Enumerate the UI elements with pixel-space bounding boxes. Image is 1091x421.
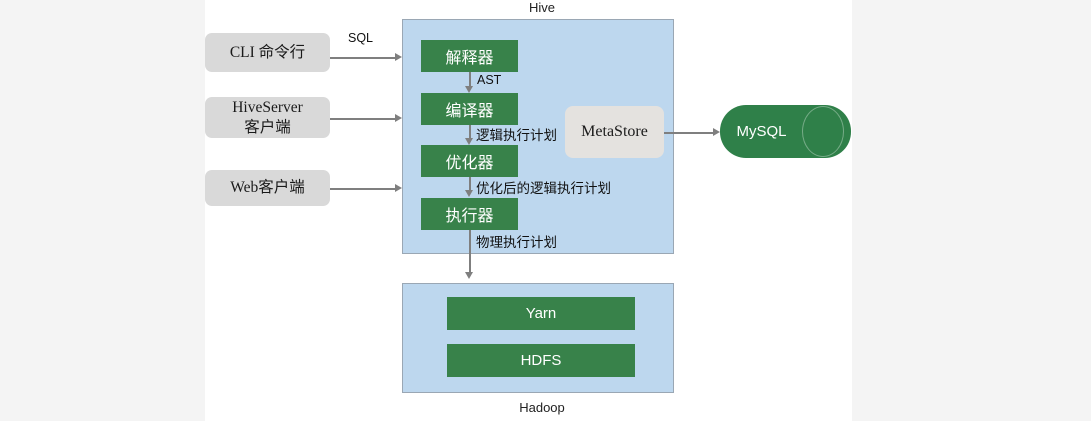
connector-hiveserver-to-hive <box>330 118 396 120</box>
arrowhead-executor-to-hadoop <box>465 272 473 279</box>
hive-stage-executor[interactable]: 执行器 <box>421 198 518 230</box>
hive-panel-title: Hive <box>497 0 587 15</box>
connector-metastore-to-mysql <box>664 132 714 134</box>
client-box-cli[interactable]: CLI 命令行 <box>205 33 330 72</box>
hive-stage-interpreter[interactable]: 解释器 <box>421 40 518 72</box>
edge-label-physical-plan: 物理执行计划 <box>476 231 557 251</box>
client-box-web[interactable]: Web客户端 <box>205 170 330 206</box>
hadoop-component-hdfs[interactable]: HDFS <box>447 344 635 377</box>
hadoop-component-yarn-label: Yarn <box>526 305 557 322</box>
connector-executor-to-hadoop <box>469 230 471 273</box>
metastore-box[interactable]: MetaStore <box>565 106 664 158</box>
connector-optimizer-to-executor <box>469 177 471 191</box>
client-box-hiveserver[interactable]: HiveServer 客户端 <box>205 97 330 138</box>
hive-stage-optimizer-label: 优化器 <box>445 149 493 173</box>
mysql-database[interactable]: MySQL <box>720 105 851 158</box>
diagram-canvas: Hive Hadoop CLI 命令行 HiveServer 客户端 Web客户… <box>0 0 1091 421</box>
hive-stage-executor-label: 执行器 <box>445 202 493 226</box>
diagram-paper: Hive Hadoop CLI 命令行 HiveServer 客户端 Web客户… <box>205 0 852 421</box>
hadoop-component-yarn[interactable]: Yarn <box>447 297 635 330</box>
mysql-label: MySQL <box>720 105 803 158</box>
client-label-cli: CLI 命令行 <box>230 43 305 62</box>
connector-cli-to-hive <box>330 57 396 59</box>
edge-label-sql: SQL <box>348 31 373 45</box>
arrowhead-compiler-to-optimizer <box>465 138 473 145</box>
hadoop-component-hdfs-label: HDFS <box>521 352 562 369</box>
connector-compiler-to-optimizer <box>469 125 471 139</box>
client-label-web: Web客户端 <box>230 178 305 197</box>
client-label-hiveserver-line1: HiveServer <box>232 98 303 117</box>
arrowhead-optimizer-to-executor <box>465 190 473 197</box>
connector-web-to-hive <box>330 188 396 190</box>
arrowhead-interpreter-to-compiler <box>465 86 473 93</box>
client-label-hiveserver-line2: 客户端 <box>244 118 291 137</box>
connector-interpreter-to-compiler <box>469 72 471 87</box>
arrowhead-hiveserver-to-hive <box>395 114 402 122</box>
cylinder-arc-icon <box>802 106 844 157</box>
edge-label-logical-plan: 逻辑执行计划 <box>476 124 557 144</box>
hive-stage-interpreter-label: 解释器 <box>445 44 493 68</box>
hive-stage-compiler-label: 编译器 <box>445 97 493 121</box>
arrowhead-web-to-hive <box>395 184 402 192</box>
hive-stage-optimizer[interactable]: 优化器 <box>421 145 518 177</box>
arrowhead-metastore-to-mysql <box>713 128 720 136</box>
arrowhead-cli-to-hive <box>395 53 402 61</box>
hive-stage-compiler[interactable]: 编译器 <box>421 93 518 125</box>
edge-label-ast: AST <box>477 73 501 87</box>
hadoop-panel-title: Hadoop <box>497 400 587 415</box>
metastore-label: MetaStore <box>581 123 648 141</box>
edge-label-optimized-logical-plan: 优化后的逻辑执行计划 <box>476 177 611 197</box>
